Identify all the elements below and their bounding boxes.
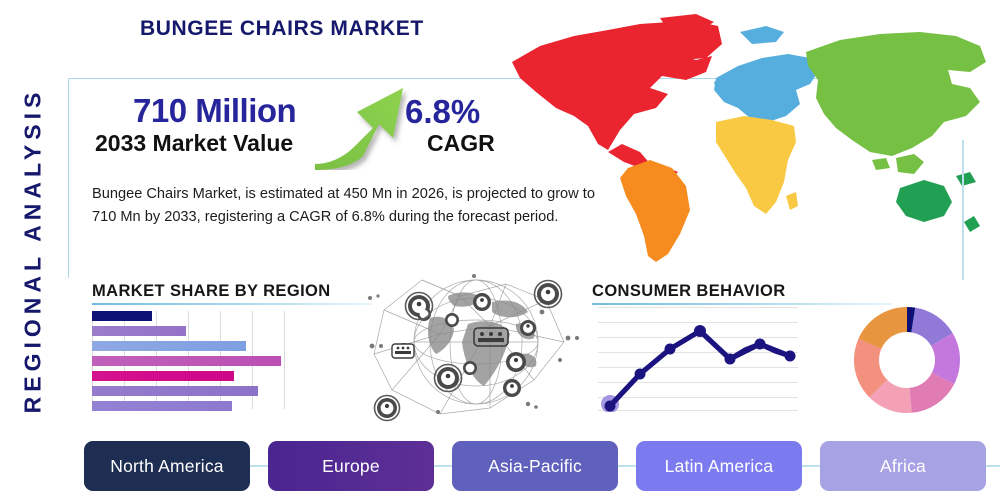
market-value-number: 710 Million [133,92,296,130]
bar-row [92,356,281,366]
consumer-behavior-heading: CONSUMER BEHAVIOR [592,282,786,301]
donut-chart [853,306,961,414]
region-tab-bar: North America Europe Asia-Pacific Latin … [84,441,964,491]
tab-europe[interactable]: Europe [268,441,434,491]
market-value-label: 2033 Market Value [95,130,293,157]
vertical-section-label: REGIONAL ANALYSIS [10,60,56,440]
tab-label: Latin America [665,456,774,477]
market-share-heading: MARKET SHARE BY REGION [92,282,331,301]
globe-network-icon [356,262,594,422]
cagr-number: 6.8% [405,93,480,131]
tab-label: Asia-Pacific [488,456,582,477]
market-share-bar-chart [92,311,287,409]
consumer-behavior-line-chart [598,306,798,412]
consumer-behavior-heading-rule [592,303,892,305]
kpi-block: 710 Million 2033 Market Value 6.8% CAGR [95,92,515,172]
cagr-label: CAGR [427,130,495,157]
bar-row [92,341,246,351]
tab-asia-pacific[interactable]: Asia-Pacific [452,441,618,491]
right-accent-line [962,140,964,280]
bar-row [92,386,258,396]
tab-africa[interactable]: Africa [820,441,986,491]
market-share-heading-rule [92,303,372,305]
tab-label: Europe [322,456,380,477]
world-map-icon [500,10,1000,280]
page-title: BUNGEE CHAIRS MARKET [140,17,424,41]
vertical-section-label-text: REGIONAL ANALYSIS [20,87,47,413]
bar-row [92,371,234,381]
bar-row [92,326,186,336]
bar-row [92,311,152,321]
tab-label: North America [110,456,223,477]
bar-row [92,401,232,411]
tab-north-america[interactable]: North America [84,441,250,491]
tab-latin-america[interactable]: Latin America [636,441,802,491]
growth-arrow-icon [313,84,409,170]
tab-label: Africa [880,456,926,477]
